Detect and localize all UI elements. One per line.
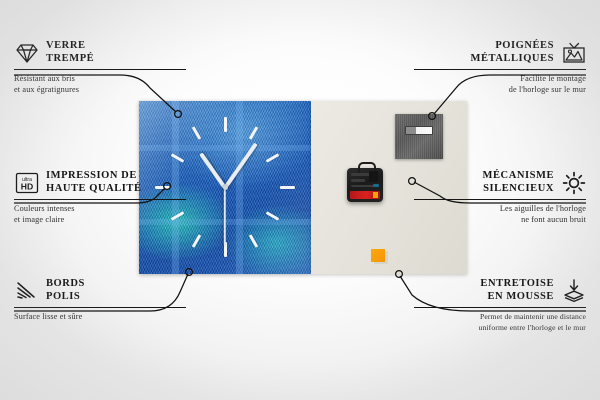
polished-edges-icon (14, 278, 39, 303)
metal-hanger-plate (395, 114, 443, 159)
callout-sub-line2: ne font aucun bruit (521, 215, 586, 224)
callout-sub-line1: Surface lisse et sûre (14, 312, 82, 321)
callout-title-line2: EN MOUSSE (487, 291, 554, 302)
callout-title-line2: MÉTALLIQUES (471, 53, 554, 64)
callout-impression-haute-qualite[interactable]: ultra HD IMPRESSION DE HAUTE QUALITÉ Cou… (14, 170, 186, 225)
callout-entretoise-en-mousse[interactable]: ENTRETOISE EN MOUSSE Permet de maintenir… (414, 278, 586, 333)
infographic-canvas: VERRE TREMPÉ Résistant aux bris et aux é… (0, 0, 600, 400)
callout-sub-line2: uniforme entre l'horloge et le mur (479, 323, 586, 332)
callout-sub-line1: Permet de maintenir une distance (480, 312, 586, 321)
callout-title-line2: HAUTE QUALITÉ (46, 183, 142, 194)
callout-title-line1: IMPRESSION DE (46, 170, 137, 181)
callout-rule (14, 199, 186, 200)
callout-rule (414, 307, 586, 308)
callout-sub-line2: et image claire (14, 215, 64, 224)
spacer-arrow-icon (561, 278, 586, 303)
callout-title-line1: VERRE (46, 40, 86, 51)
callout-title-line1: MÉCANISME (483, 170, 554, 181)
callout-rule (14, 307, 186, 308)
callout-sub-line1: Résistant aux bris (14, 74, 75, 83)
callout-rule (14, 69, 186, 70)
second-hand (224, 188, 226, 246)
callout-bords-polis[interactable]: BORDS POLIS Surface lisse et sûre (14, 278, 186, 323)
callout-title-line1: BORDS (46, 278, 85, 289)
clock-tick (224, 117, 227, 132)
callout-poignees-metalliques[interactable]: POIGNÉES MÉTALLIQUES Facilite le montage… (414, 40, 586, 95)
callout-sub-line1: Facilite le montage (520, 74, 586, 83)
callout-title-line2: POLIS (46, 291, 80, 302)
foam-spacer (371, 249, 385, 262)
hanger-slot (405, 126, 433, 135)
callout-title-line1: ENTRETOISE (480, 278, 554, 289)
callout-sub-line1: Les aiguilles de l'horloge (500, 204, 586, 213)
ultra-hd-icon: ultra HD (14, 170, 39, 195)
callout-sub-line2: de l'horloge sur le mur (509, 85, 586, 94)
callout-verre-trempe[interactable]: VERRE TREMPÉ Résistant aux bris et aux é… (14, 40, 186, 95)
callout-mecanisme-silencieux[interactable]: MÉCANISME SILENCIEUX Les aiguilles de l'… (414, 170, 586, 225)
battery (350, 191, 380, 199)
callout-title-line2: SILENCIEUX (483, 183, 554, 194)
callout-rule (414, 69, 586, 70)
battery-plus-terminal (373, 192, 378, 198)
callout-sub-line1: Couleurs intenses (14, 204, 75, 213)
callout-rule (414, 199, 586, 200)
callout-sub-line2: et aux égratignures (14, 85, 79, 94)
gear-icon (561, 170, 586, 195)
callout-title-line1: POIGNÉES (495, 40, 554, 51)
clock-hub (223, 185, 228, 190)
wall-hanging-icon (561, 40, 586, 65)
diamond-icon (14, 40, 39, 65)
clock-mechanism (347, 168, 383, 202)
clock-tick (280, 186, 295, 189)
callout-title-line2: TREMPÉ (46, 53, 94, 64)
svg-text:HD: HD (21, 182, 33, 192)
